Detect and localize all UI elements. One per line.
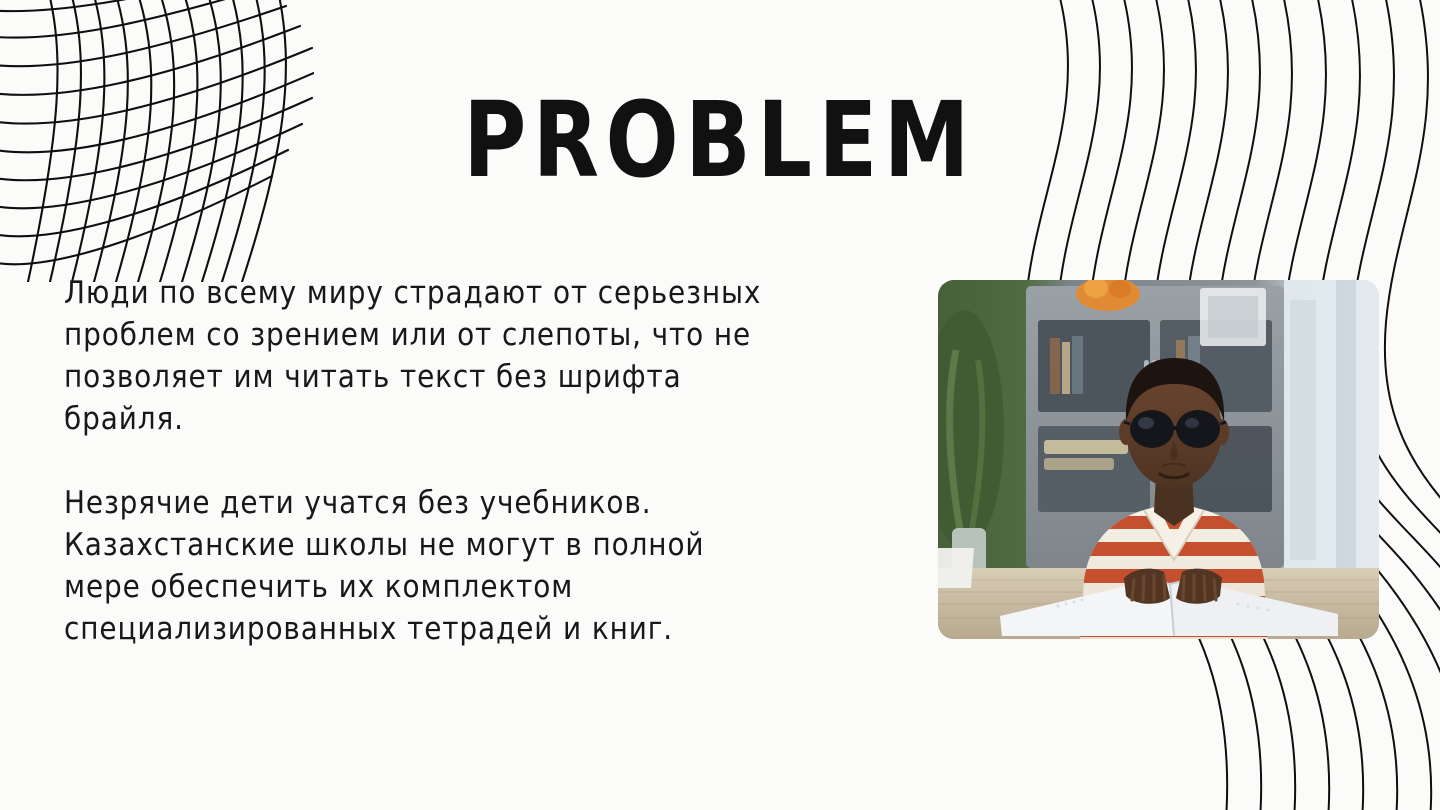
- paragraph-2-line-2: Казахстанские школы не могут в полной: [64, 524, 914, 566]
- blind-man-reading-braille-book-photo: [938, 280, 1379, 639]
- paragraph-2-line-4: специализированных тетрадей и книг.: [64, 608, 914, 650]
- paragraph-1-line-2: проблем со зрением или от слепоты, что н…: [64, 314, 914, 356]
- body-paragraph-1: Люди по всему миру страдают от серьезных…: [64, 272, 914, 440]
- paragraph-1-line-3: позволяет им читать текст без шрифта: [64, 356, 914, 398]
- body-paragraph-2: Незрячие дети учатся без учебников. Каза…: [64, 482, 914, 650]
- paragraph-1-line-1: Люди по всему миру страдают от серьезных: [64, 272, 914, 314]
- page-title: PROBLEM: [464, 88, 977, 192]
- paragraph-2-line-3: мере обеспечить их комплектом: [64, 566, 914, 608]
- photo-illustration: [938, 280, 1379, 639]
- presentation-slide: PROBLEM Люди по всему миру страдают от с…: [0, 0, 1440, 810]
- paragraph-1-line-4: брайля.: [64, 398, 914, 440]
- paragraph-2-line-1: Незрячие дети учатся без учебников.: [64, 482, 914, 524]
- page-title-block: PROBLEM: [0, 88, 1440, 192]
- body-copy: Люди по всему миру страдают от серьезных…: [64, 272, 914, 650]
